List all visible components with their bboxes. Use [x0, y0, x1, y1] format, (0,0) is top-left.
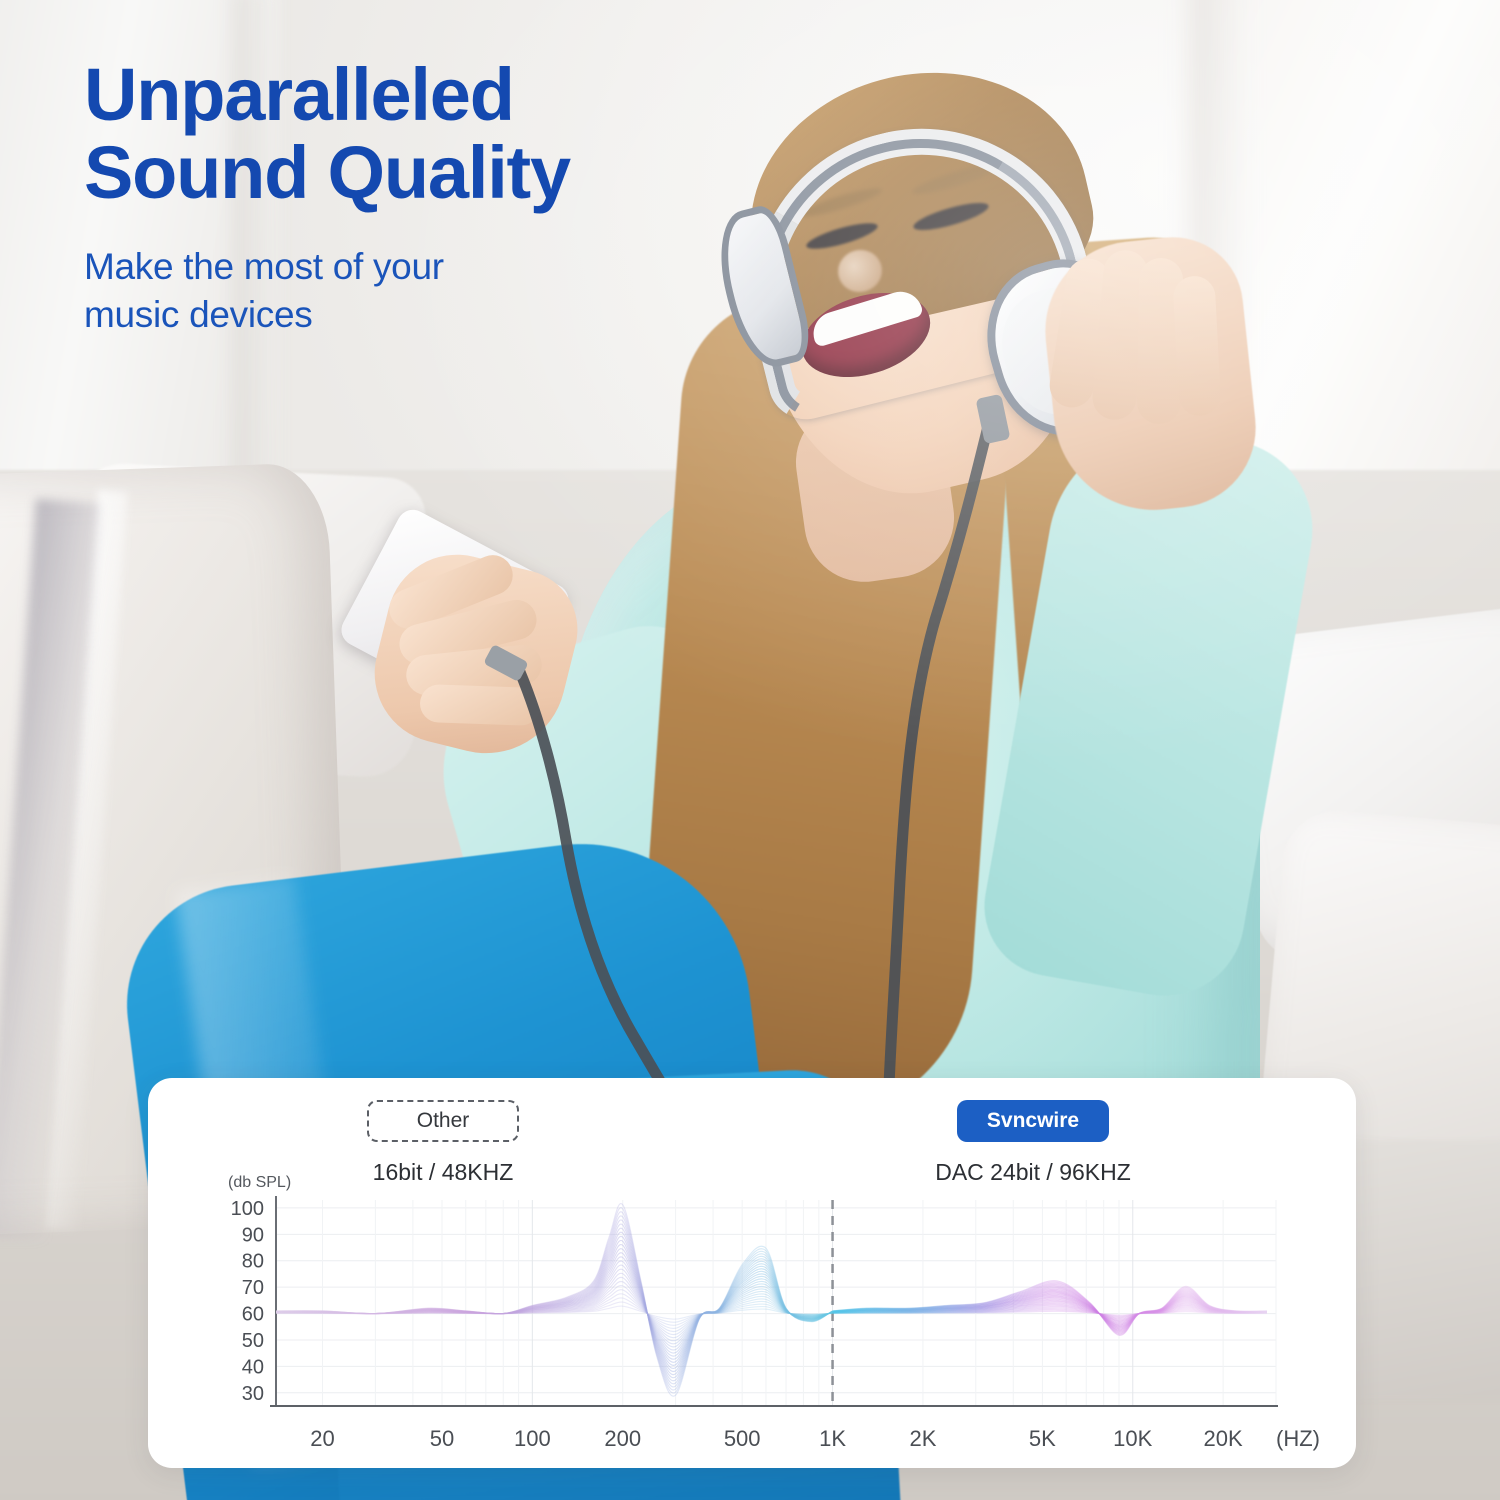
svg-text:500: 500 [724, 1426, 761, 1451]
svg-text:(HZ): (HZ) [1276, 1426, 1320, 1451]
svg-text:5K: 5K [1029, 1426, 1056, 1451]
svg-text:200: 200 [604, 1426, 641, 1451]
legend-group-brand: Svncwire DAC 24bit / 96KHZ [738, 1100, 1328, 1186]
title-line-2: Sound Quality [84, 131, 570, 214]
svg-text:100: 100 [514, 1426, 551, 1451]
title-line-1: Unparalleled [84, 53, 514, 136]
subtitle-line-1: Make the most of your [84, 246, 444, 287]
page-subtitle: Make the most of your music devices [84, 243, 744, 339]
svg-text:70: 70 [242, 1277, 264, 1299]
svg-text:60: 60 [242, 1304, 264, 1326]
chart-plot-area: 1009080706050403020501002005001K2K5K10K2… [148, 1194, 1356, 1466]
legend-spec-other: 16bit / 48KHZ [373, 1159, 514, 1186]
legend-chip-svncwire[interactable]: Svncwire [957, 1100, 1109, 1142]
svg-text:90: 90 [242, 1224, 264, 1246]
subtitle-line-2: music devices [84, 294, 312, 335]
legend-spec-svncwire: DAC 24bit / 96KHZ [935, 1159, 1131, 1186]
svg-text:1K: 1K [819, 1426, 846, 1451]
svg-text:30: 30 [242, 1383, 264, 1405]
chart-legend: Other 16bit / 48KHZ Svncwire DAC 24bit /… [148, 1100, 1356, 1186]
page-title: Unparalleled Sound Quality [84, 56, 744, 213]
y-axis-unit-label: (db SPL) [228, 1174, 291, 1192]
legend-chip-other[interactable]: Other [367, 1100, 519, 1142]
svg-text:20K: 20K [1204, 1426, 1243, 1451]
finger [419, 684, 540, 726]
svg-text:20: 20 [310, 1426, 334, 1451]
finger [1172, 275, 1221, 417]
promo-banner: Unparalleled Sound Quality Make the most… [0, 0, 1500, 1500]
svg-text:80: 80 [242, 1251, 264, 1273]
svg-text:10K: 10K [1113, 1426, 1152, 1451]
headline-block: Unparalleled Sound Quality Make the most… [84, 56, 744, 339]
svg-text:50: 50 [430, 1426, 454, 1451]
svg-text:50: 50 [242, 1330, 264, 1352]
frequency-response-card: Other 16bit / 48KHZ Svncwire DAC 24bit /… [148, 1078, 1356, 1468]
svg-text:40: 40 [242, 1356, 264, 1378]
frequency-response-plot: 1009080706050403020501002005001K2K5K10K2… [148, 1194, 1356, 1466]
svg-text:2K: 2K [909, 1426, 936, 1451]
svg-text:100: 100 [231, 1198, 264, 1220]
